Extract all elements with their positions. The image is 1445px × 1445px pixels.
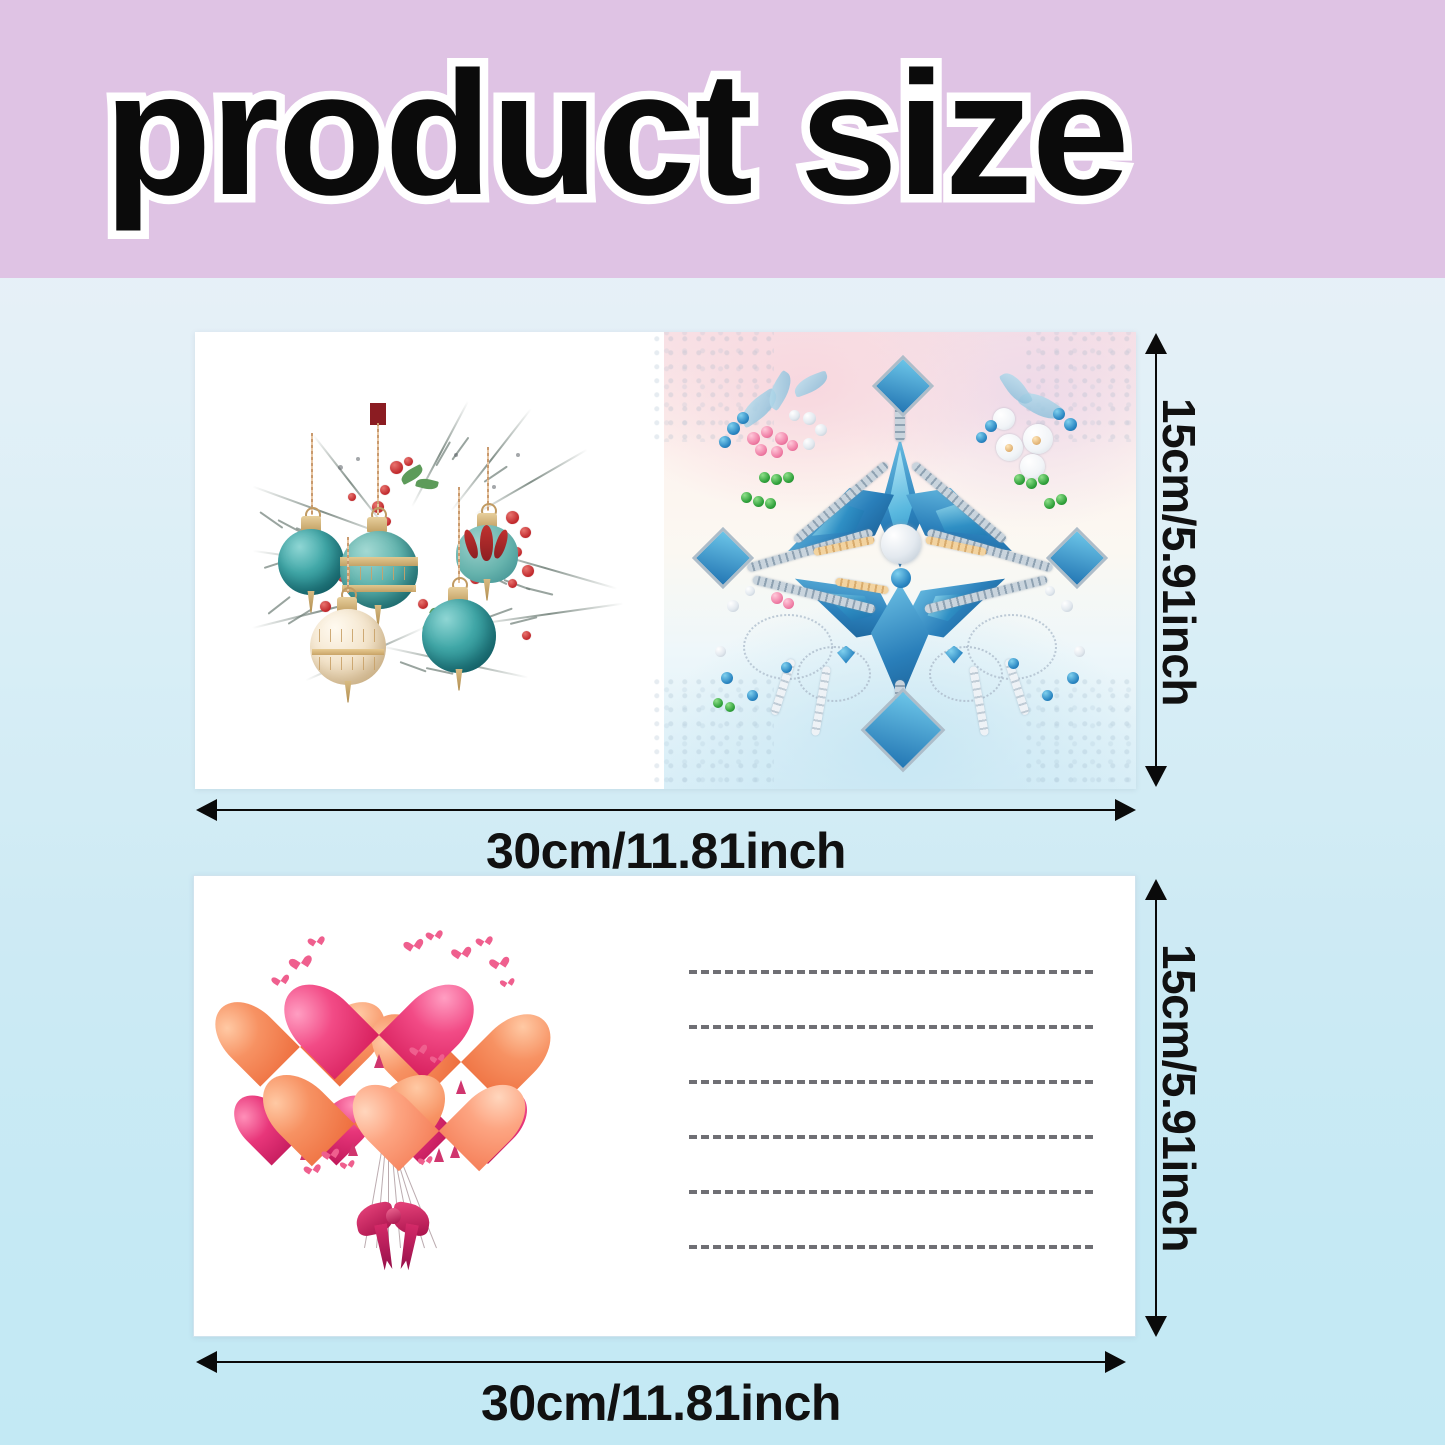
top-card-width-label: 30cm/11.81inch — [216, 822, 1116, 880]
writing-line — [689, 1190, 1093, 1194]
balloons-artwork-panel — [194, 876, 663, 1336]
snowflake-diamond-painting — [664, 332, 1136, 789]
product-card-balloons — [193, 875, 1136, 1337]
writing-lines-panel — [663, 876, 1135, 1336]
header-band: product size — [0, 0, 1445, 278]
christmas-ornaments-illustration — [230, 361, 630, 761]
writing-line — [689, 970, 1093, 974]
product-size-infographic: product size — [0, 0, 1445, 1445]
writing-line — [689, 1080, 1093, 1084]
bottom-card-width-label: 30cm/11.81inch — [216, 1374, 1106, 1432]
heart-balloons-illustration — [216, 906, 626, 1306]
writing-line — [689, 1245, 1093, 1249]
ornaments-artwork-panel — [195, 332, 664, 789]
top-card-width-arrow — [216, 809, 1116, 811]
bottom-card-height-label: 15cm/5.91inch — [1152, 944, 1206, 1252]
top-card-height-label: 15cm/5.91inch — [1152, 398, 1206, 706]
snowflake-artwork-panel — [664, 332, 1136, 789]
writing-line — [689, 1135, 1093, 1139]
writing-line — [689, 1025, 1093, 1029]
page-title: product size — [104, 46, 1129, 222]
bottom-card-width-arrow — [216, 1361, 1106, 1363]
product-card-ornaments — [195, 332, 1136, 789]
